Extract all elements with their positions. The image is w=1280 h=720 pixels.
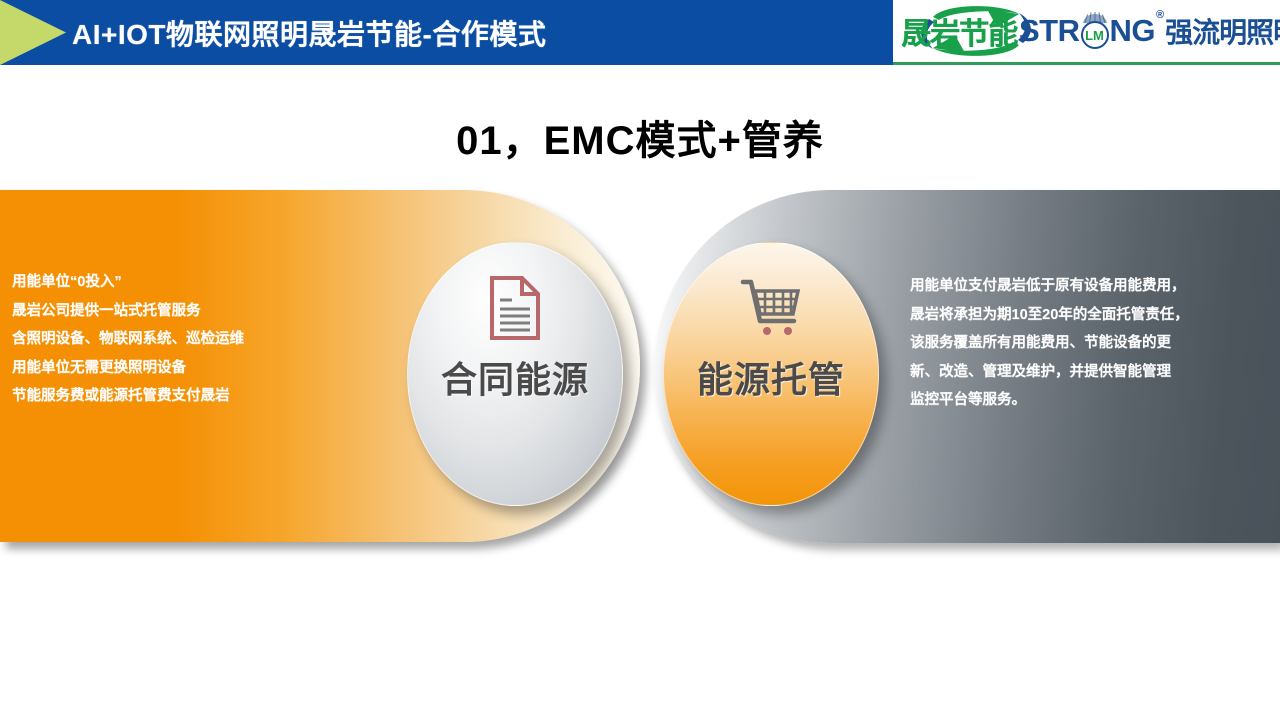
badge-label: 能源托管 [697, 351, 845, 403]
logo-company-mark: 晟岩节能 [901, 3, 1017, 59]
badge-contract-energy[interactable]: 合同能源 [407, 242, 623, 506]
right-text-line: 新、改造、管理及维护，并提供智能管理 [910, 358, 1270, 387]
badge-energy-trusteeship[interactable]: 能源托管 [663, 242, 879, 506]
left-text-line: 节能服务费或能源托管费支付晟岩 [12, 382, 352, 411]
left-text-line: 用能单位“0投入” [12, 268, 352, 297]
left-text-line: 晟岩公司提供一站式托管服务 [12, 297, 352, 326]
left-panel-text: 用能单位“0投入” 晟岩公司提供一站式托管服务 含照明设备、物联网系统、巡检运维… [12, 268, 352, 411]
right-text-line: 监控平台等服务。 [910, 386, 1270, 415]
content-panels: 用能单位“0投入” 晟岩公司提供一站式托管服务 含照明设备、物联网系统、巡检运维… [0, 0, 1280, 720]
right-text-line: 晟岩将承担为期10至20年的全面托管责任， [910, 301, 1270, 330]
right-panel-text: 用能单位支付晟岩低于原有设备用能费用， 晟岩将承担为期10至20年的全面托管责任… [910, 272, 1270, 415]
left-text-line: 含照明设备、物联网系统、巡检运维 [12, 325, 352, 354]
right-text-line: 该服务覆盖所有用能费用、节能设备的更 [910, 329, 1270, 358]
shopping-cart-icon [740, 275, 802, 341]
badge-label: 合同能源 [441, 351, 589, 403]
right-text-line: 用能单位支付晟岩低于原有设备用能费用， [910, 272, 1270, 301]
document-icon [488, 275, 542, 341]
logo-company-name: 晟岩节能 [901, 9, 1017, 53]
left-text-line: 用能单位无需更换照明设备 [12, 354, 352, 383]
